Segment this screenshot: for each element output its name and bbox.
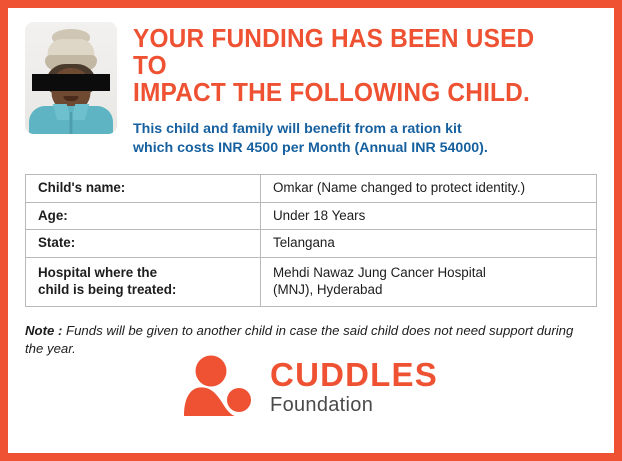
child-details-table: Child's name: Omkar (Name changed to pro… (25, 174, 597, 307)
table-cell-label-line2: child is being treated: (38, 281, 251, 299)
page-subtitle: This child and family will benefit from … (133, 120, 597, 158)
table-row: State: Telangana (26, 230, 597, 258)
table-cell-label: Child's name: (26, 175, 261, 203)
child-photo-image (25, 22, 117, 134)
table-cell-value-line2: (MNJ), Hyderabad (273, 281, 587, 299)
table-cell-label: Age: (26, 202, 261, 230)
table-cell-value: Omkar (Name changed to protect identity.… (261, 175, 597, 203)
privacy-bar-icon (32, 74, 110, 91)
heading-column: YOUR FUNDING HAS BEEN USED TO IMPACT THE… (133, 22, 597, 158)
note-body: Funds will be given to another child in … (25, 323, 573, 356)
page-title-line2: IMPACT THE FOLLOWING CHILD. (133, 79, 569, 106)
table-row: Age: Under 18 Years (26, 202, 597, 230)
page-subtitle-line2: which costs INR 4500 per Month (Annual I… (133, 139, 597, 158)
table-cell-label: Hospital where the child is being treate… (26, 257, 261, 306)
page-title: YOUR FUNDING HAS BEEN USED TO IMPACT THE… (133, 25, 569, 106)
table-cell-value-line1: Mehdi Nawaz Jung Cancer Hospital (273, 264, 587, 282)
page-subtitle-line1: This child and family will benefit from … (133, 120, 597, 139)
table-row: Child's name: Omkar (Name changed to pro… (26, 175, 597, 203)
table-cell-value: Mehdi Nawaz Jung Cancer Hospital (MNJ), … (261, 257, 597, 306)
logo-subtitle: Foundation (270, 395, 438, 415)
note-prefix: Note : (25, 323, 62, 338)
shirt-placket (70, 112, 73, 134)
table-cell-value: Under 18 Years (261, 202, 597, 230)
logo-wordmark: CUDDLES (270, 358, 438, 391)
donation-impact-card: YOUR FUNDING HAS BEEN USED TO IMPACT THE… (0, 0, 622, 461)
table-cell-label: State: (26, 230, 261, 258)
card-inner: YOUR FUNDING HAS BEEN USED TO IMPACT THE… (8, 8, 614, 453)
page-title-line1: YOUR FUNDING HAS BEEN USED TO (133, 25, 569, 79)
cuddles-foundation-logo: CUDDLES Foundation (8, 355, 614, 417)
header-section: YOUR FUNDING HAS BEEN USED TO IMPACT THE… (25, 22, 597, 158)
cuddles-logo-mark-icon (184, 355, 256, 417)
table-cell-label-line1: Hospital where the (38, 264, 251, 282)
logo-text: CUDDLES Foundation (270, 358, 438, 415)
table-cell-value: Telangana (261, 230, 597, 258)
table-row: Hospital where the child is being treate… (26, 257, 597, 306)
child-photo (25, 22, 117, 134)
note-text: Note : Funds will be given to another ch… (25, 322, 597, 358)
